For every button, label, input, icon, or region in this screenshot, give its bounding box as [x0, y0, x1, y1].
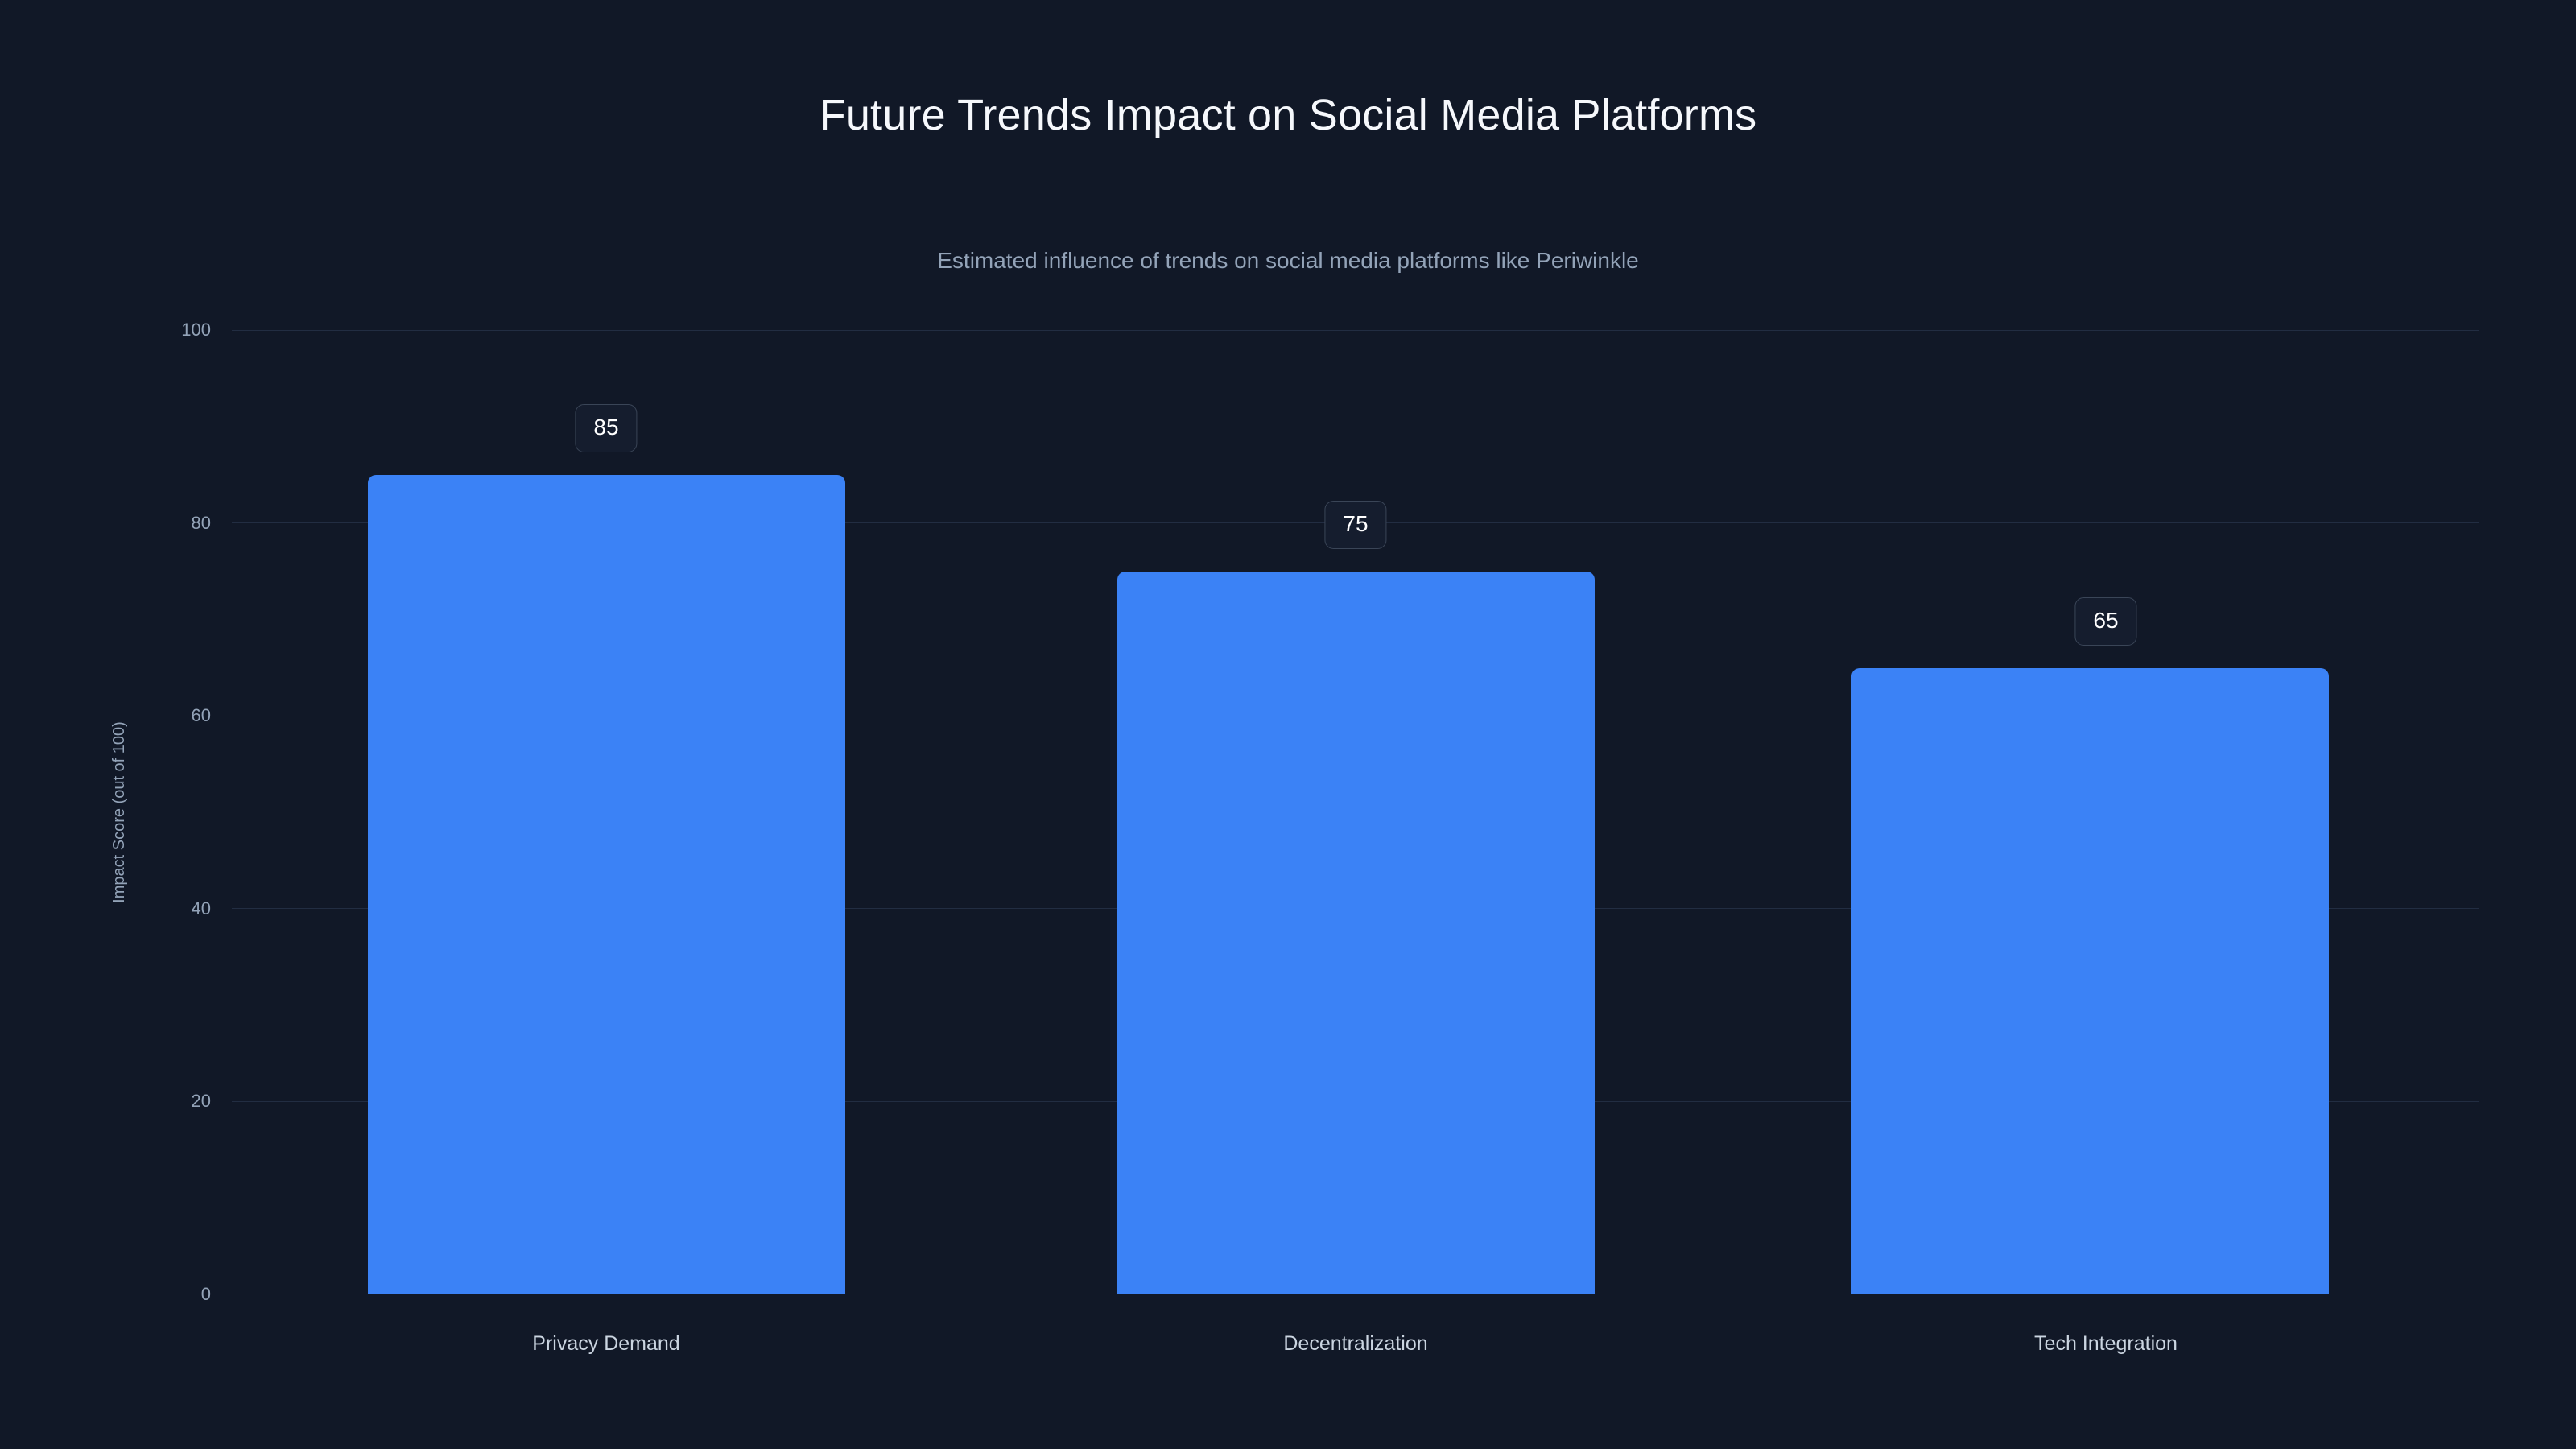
- bar-privacy-demand[interactable]: [368, 475, 845, 1294]
- y-tick-label-80: 80: [138, 513, 211, 534]
- y-tick-label-100: 100: [138, 320, 211, 341]
- page-title: Future Trends Impact on Social Media Pla…: [0, 90, 2576, 140]
- bar-decentralization[interactable]: [1117, 572, 1595, 1294]
- y-tick-label-20: 20: [138, 1091, 211, 1112]
- page-subtitle: Estimated influence of trends on social …: [0, 248, 2576, 274]
- y-axis-label: Impact Score (out of 100): [103, 330, 135, 1294]
- bar-tech-integration[interactable]: [1851, 668, 2329, 1294]
- bar-value-badge-privacy-demand: 85: [575, 404, 637, 452]
- bar-value-badge-tech-integration: 65: [2074, 597, 2136, 646]
- plot-area: [232, 330, 2479, 1294]
- gridline-100: [232, 330, 2479, 331]
- x-category-label-decentralization: Decentralization: [1283, 1332, 1427, 1356]
- x-category-label-privacy-demand: Privacy Demand: [532, 1332, 679, 1356]
- bar-value-badge-decentralization: 75: [1324, 501, 1386, 549]
- y-tick-label-60: 60: [138, 705, 211, 726]
- x-category-label-tech-integration: Tech Integration: [2034, 1332, 2178, 1356]
- y-tick-label-0: 0: [138, 1284, 211, 1305]
- y-tick-label-40: 40: [138, 898, 211, 919]
